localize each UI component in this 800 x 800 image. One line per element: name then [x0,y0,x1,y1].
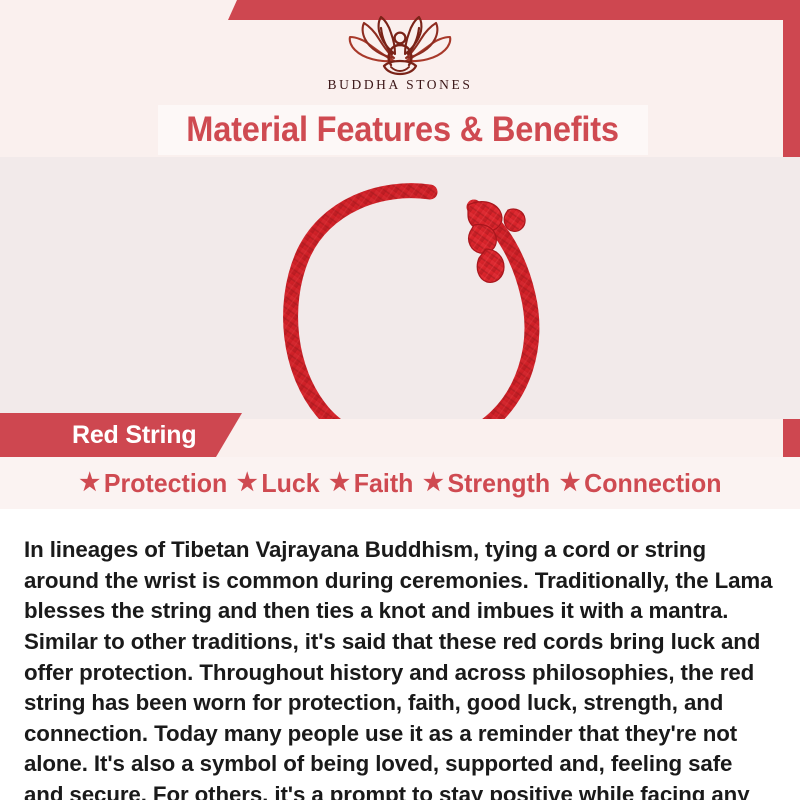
star-icon: ★ [559,471,580,495]
page-title: Material Features & Benefits [187,110,620,150]
feature-label: Strength [447,468,550,499]
feature-connection: ★ Connection [554,468,725,499]
brand-logo: BUDDHA STONES [0,14,800,106]
star-icon: ★ [236,471,257,495]
headline-band: Material Features & Benefits [158,105,648,155]
star-icon: ★ [79,471,100,495]
feature-faith: ★ Faith [324,468,418,499]
star-icon: ★ [423,471,444,495]
feature-protection: ★ Protection [74,468,232,499]
lotus-meditation-figure-icon [334,14,466,76]
brand-wordmark: BUDDHA STONES [328,77,473,93]
features-strip: ★ Protection ★ Luck ★ Faith ★ Strength ★… [0,457,800,509]
feature-label: Luck [261,468,319,499]
feature-label: Faith [353,468,413,499]
feature-luck: ★ Luck [232,468,324,499]
feature-strength: ★ Strength [418,468,555,499]
features-row: ★ Protection ★ Luck ★ Faith ★ Strength ★… [74,468,726,499]
feature-label: Protection [103,468,226,499]
ribbon-label: Red String [72,421,196,450]
description-text: In lineages of Tibetan Vajrayana Buddhis… [24,535,776,800]
description-panel: In lineages of Tibetan Vajrayana Buddhis… [0,509,800,800]
feature-label: Connection [584,468,721,499]
product-image-area [0,157,800,419]
star-icon: ★ [329,471,350,495]
red-string-bracelet-image [262,165,582,419]
poster-root: BUDDHA STONES Material Features & Benefi… [0,0,800,800]
red-string-ribbon: Red String [0,413,242,457]
